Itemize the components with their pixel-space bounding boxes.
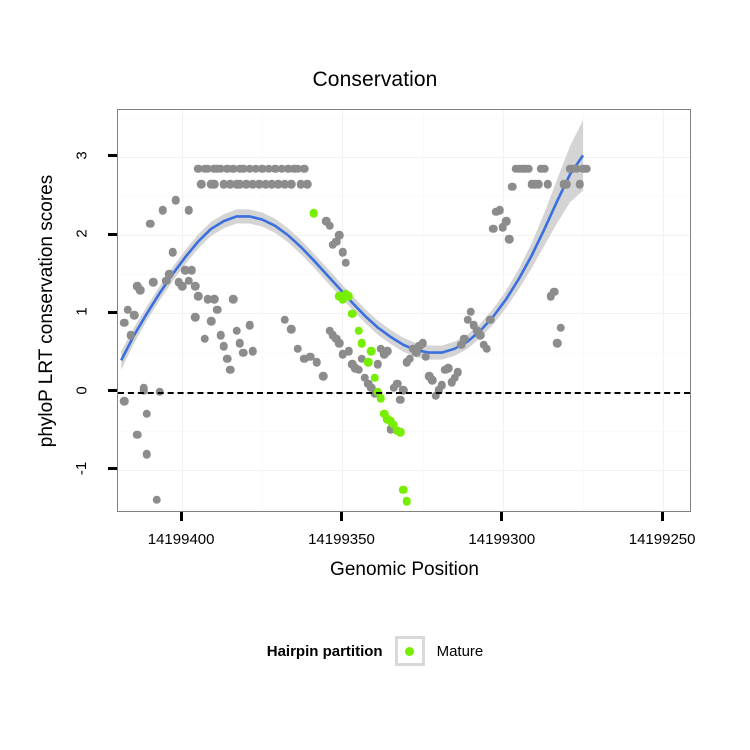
y-axis-tick: [108, 233, 117, 236]
data-point: [120, 397, 129, 406]
data-point: [309, 209, 318, 218]
loess-band-path: [121, 120, 583, 370]
x-axis-tick: [180, 512, 183, 521]
data-point: [476, 331, 485, 340]
data-point: [197, 180, 206, 189]
legend-title: Hairpin partition: [267, 643, 383, 660]
data-point: [133, 430, 142, 439]
data-point: [146, 219, 155, 228]
zero-reference-line: [118, 392, 690, 394]
data-point: [582, 164, 591, 173]
data-point: [444, 364, 453, 373]
data-point: [576, 180, 585, 189]
data-point: [396, 395, 405, 404]
data-point: [550, 287, 559, 296]
data-point: [524, 164, 533, 173]
x-axis-tick: [500, 512, 503, 521]
y-axis-tick: [108, 311, 117, 314]
data-point: [200, 334, 209, 343]
data-point: [239, 348, 248, 357]
data-point: [345, 347, 354, 356]
data-point: [460, 334, 469, 343]
data-point: [313, 358, 322, 367]
x-axis-label: Genomic Position: [117, 559, 692, 581]
data-point: [534, 180, 543, 189]
data-point: [354, 326, 363, 335]
data-point: [399, 485, 408, 494]
data-point: [165, 270, 174, 279]
data-point: [402, 497, 411, 506]
data-point: [335, 231, 344, 240]
data-point: [422, 352, 431, 361]
data-point: [171, 196, 180, 205]
data-point: [248, 347, 257, 356]
data-point: [207, 317, 216, 326]
data-point: [553, 339, 562, 348]
data-point: [159, 206, 168, 215]
data-point: [287, 180, 296, 189]
x-axis-tick-label: 14199400: [121, 531, 241, 548]
data-point: [543, 180, 552, 189]
data-point: [338, 248, 347, 257]
data-point: [226, 366, 235, 375]
data-point: [454, 368, 463, 377]
data-point: [489, 225, 498, 234]
data-point: [136, 286, 145, 295]
data-point: [508, 182, 517, 191]
y-axis-tick-label: 0: [62, 382, 102, 399]
data-point: [495, 206, 504, 215]
data-point: [149, 278, 158, 287]
data-point: [120, 319, 129, 328]
data-point: [505, 235, 514, 244]
data-point: [280, 315, 289, 324]
data-point: [364, 358, 373, 367]
x-axis-tick-label: 14199350: [281, 531, 401, 548]
x-axis-tick: [661, 512, 664, 521]
data-point: [354, 366, 363, 375]
y-axis-label: phyloP LRT conservation scores: [36, 174, 58, 447]
legend: Hairpin partition Mature: [0, 636, 750, 666]
data-point: [303, 180, 312, 189]
data-point: [220, 342, 229, 351]
data-point: [236, 339, 245, 348]
data-point: [325, 222, 334, 231]
chart-title: Conservation: [0, 68, 750, 92]
data-point: [293, 344, 302, 353]
data-point: [191, 282, 200, 291]
data-point: [540, 164, 549, 173]
data-point: [418, 339, 427, 348]
data-point: [188, 266, 197, 275]
data-point: [367, 347, 376, 356]
y-axis-tick-label: 2: [62, 225, 102, 242]
data-point: [194, 292, 203, 301]
data-point: [213, 305, 222, 314]
legend-marker-icon: [405, 647, 414, 656]
y-axis-tick-label: 1: [62, 303, 102, 320]
data-point: [245, 321, 254, 330]
data-point: [345, 292, 354, 301]
data-point: [210, 180, 219, 189]
x-axis-tick-label: 14199300: [442, 531, 562, 548]
y-axis-tick: [108, 389, 117, 392]
data-point: [556, 323, 565, 332]
data-point: [152, 495, 161, 504]
x-axis-tick: [340, 512, 343, 521]
data-point: [223, 355, 232, 364]
data-point: [396, 428, 405, 437]
data-point: [373, 360, 382, 369]
data-point: [216, 331, 225, 340]
y-axis-tick: [108, 154, 117, 157]
data-point: [483, 344, 492, 353]
y-axis-label-wrapper: phyloP LRT conservation scores: [34, 109, 60, 512]
data-point: [466, 308, 475, 317]
data-point: [232, 326, 241, 335]
data-point: [300, 164, 309, 173]
data-point: [319, 372, 328, 381]
data-point: [377, 394, 386, 403]
y-axis-tick-label: -1: [62, 460, 102, 477]
data-point: [287, 325, 296, 334]
data-point: [143, 409, 152, 418]
data-point: [130, 311, 139, 320]
plot-panel: [117, 109, 691, 512]
data-point: [191, 313, 200, 322]
x-axis-tick-label: 14199250: [602, 531, 722, 548]
data-point: [341, 258, 350, 267]
data-point: [428, 376, 437, 385]
data-point: [335, 339, 344, 348]
legend-label-mature: Mature: [437, 643, 484, 660]
data-point: [486, 315, 495, 324]
data-point: [502, 217, 511, 226]
data-point: [210, 295, 219, 304]
data-point: [357, 339, 366, 348]
data-point: [229, 295, 238, 304]
data-point: [127, 331, 136, 340]
data-point: [383, 347, 392, 356]
data-point: [168, 248, 177, 257]
data-point: [563, 180, 572, 189]
y-axis-tick-label: 3: [62, 147, 102, 164]
data-point: [370, 373, 379, 382]
y-axis-tick: [108, 467, 117, 470]
data-point: [184, 206, 193, 215]
data-point: [348, 309, 357, 318]
conservation-chart: Conservation phyloP LRT conservation sco…: [0, 0, 750, 750]
data-point: [438, 381, 447, 390]
legend-key-mature[interactable]: [395, 636, 425, 666]
data-point: [143, 450, 152, 459]
